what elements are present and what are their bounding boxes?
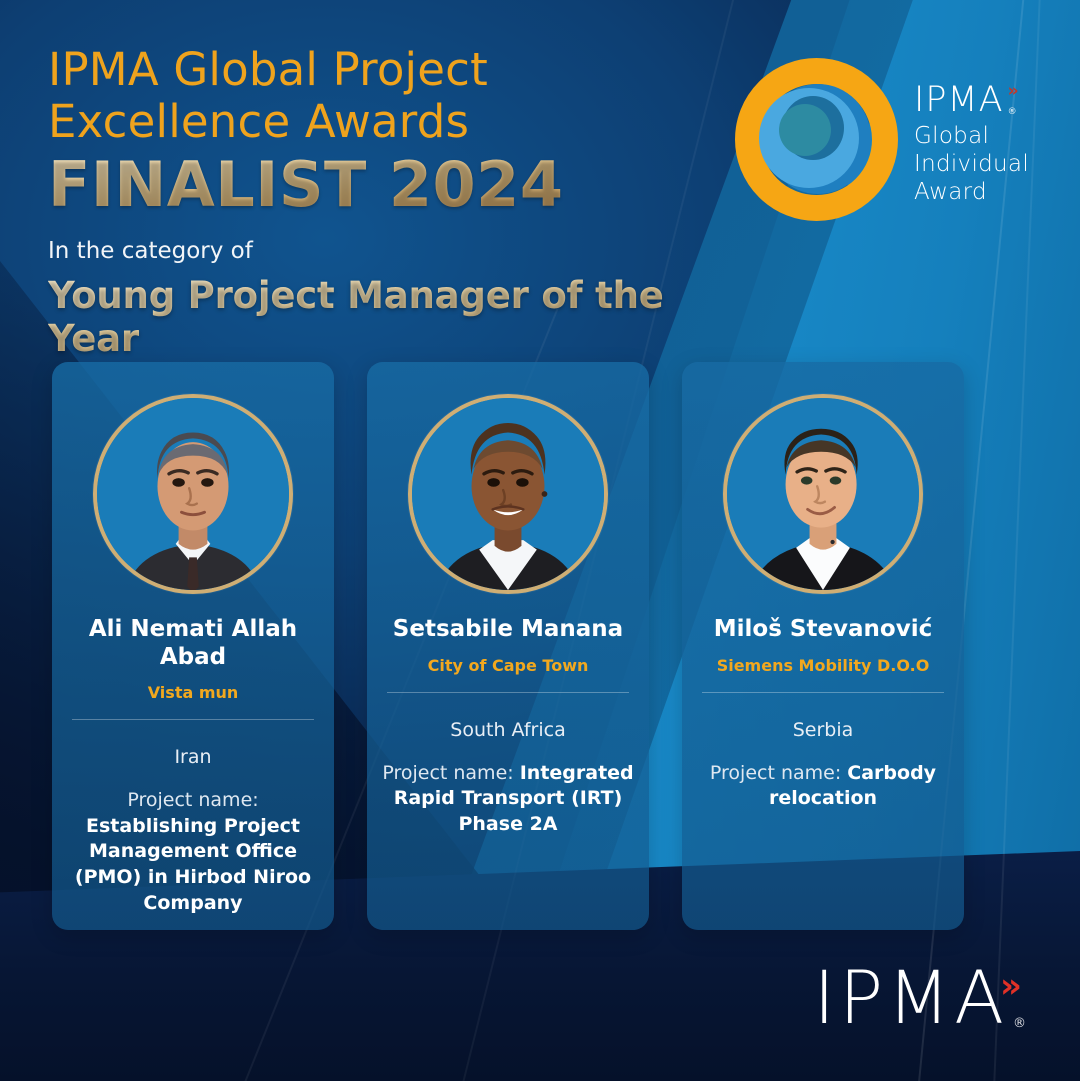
portrait-milos-stevanovic xyxy=(723,394,923,594)
finalist-name: Setsabile Manana xyxy=(387,616,629,644)
finalist-organization: City of Cape Town xyxy=(420,656,597,676)
project-label: Project name: xyxy=(127,789,258,811)
finalist-project: Project name: Establishing Project Manag… xyxy=(52,788,334,916)
project-name: Establishing Project Management Office (… xyxy=(75,815,311,914)
finalist-year-title: FINALIST 2024 xyxy=(48,154,563,216)
card-divider xyxy=(702,692,945,693)
award-subtitle-line2: Individual xyxy=(914,150,1029,178)
poster-header: IPMA Global Project Excellence Awards FI… xyxy=(48,44,748,360)
chevron-icon: » xyxy=(1008,81,1015,101)
finalist-card[interactable]: Ali Nemati Allah Abad Vista mun Iran Pro… xyxy=(52,362,334,930)
ipma-global-individual-award-mark: IPMA » ® Global Individual Award xyxy=(735,58,1029,221)
award-mark-subtitle: Global Individual Award xyxy=(914,122,1029,206)
award-subtitle-line1: Global xyxy=(914,122,1029,150)
portrait-setsabile-manana xyxy=(408,394,608,594)
finalist-card[interactable]: Setsabile Manana City of Cape Town South… xyxy=(367,362,649,930)
award-poster: IPMA Global Project Excellence Awards FI… xyxy=(0,0,1080,1081)
finalist-name: Ali Nemati Allah Abad xyxy=(52,616,334,671)
ring-core-teal xyxy=(779,104,831,156)
category-name: Young Project Manager of the Year xyxy=(48,274,748,360)
concentric-ring-icon xyxy=(735,58,898,221)
award-subtitle-line3: Award xyxy=(914,178,1029,206)
finalist-name: Miloš Stevanović xyxy=(708,616,939,644)
registered-icon: ® xyxy=(1013,1016,1026,1031)
portrait-ali-nemati-allah-abad xyxy=(93,394,293,594)
finalist-project: Project name: Integrated Rapid Transport… xyxy=(367,761,649,838)
card-divider xyxy=(72,719,315,720)
category-label: In the category of xyxy=(48,238,748,264)
ipma-footer-wordmark: IPMA xyxy=(814,962,1008,1035)
ipma-wordmark: IPMA » ® xyxy=(914,80,1004,120)
award-title-line1: IPMA Global Project xyxy=(48,44,748,96)
finalist-card-list: Ali Nemati Allah Abad Vista mun Iran Pro… xyxy=(52,362,1028,930)
finalist-project: Project name: Carbody relocation xyxy=(682,761,964,812)
registered-icon: ® xyxy=(1008,107,1017,117)
finalist-organization: Vista mun xyxy=(140,683,247,703)
card-divider xyxy=(387,692,630,693)
project-label: Project name: xyxy=(382,762,513,784)
project-label: Project name: xyxy=(710,762,841,784)
finalist-country: Serbia xyxy=(793,719,854,741)
finalist-organization: Siemens Mobility D.O.O xyxy=(709,656,938,676)
finalist-country: South Africa xyxy=(450,719,565,741)
ipma-footer-logo: IPMA » ® xyxy=(814,962,1022,1035)
ipma-wordmark-text: IPMA xyxy=(914,80,1004,120)
finalist-card[interactable]: Miloš Stevanović Siemens Mobility D.O.O … xyxy=(682,362,964,930)
award-title-line2: Excellence Awards xyxy=(48,96,748,148)
chevron-icon: » xyxy=(1000,966,1014,1006)
award-mark-text: IPMA » ® Global Individual Award xyxy=(914,58,1029,206)
finalist-country: Iran xyxy=(174,746,211,768)
